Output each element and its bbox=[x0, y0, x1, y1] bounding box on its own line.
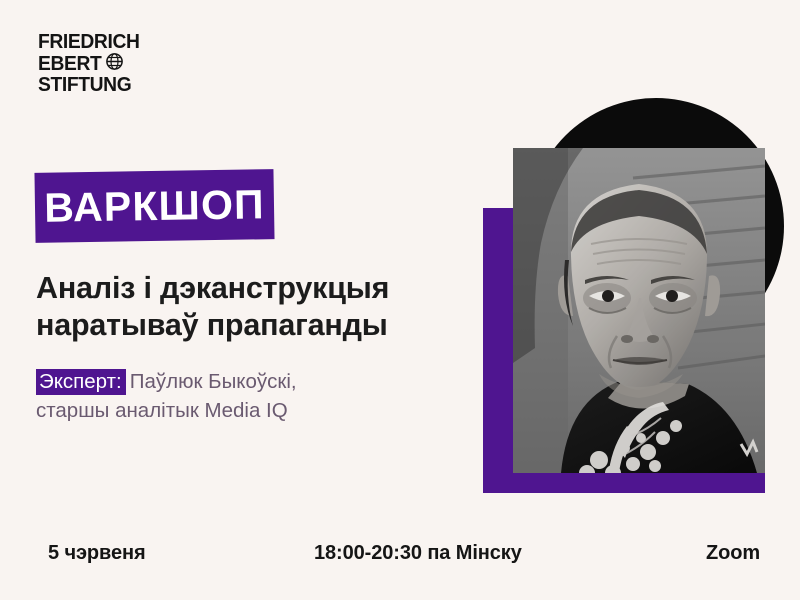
logo-line-ebert: EBERT bbox=[38, 54, 101, 74]
logo-line-friedrich: FRIEDRICH bbox=[38, 32, 160, 52]
page-title: Аналіз і дэканструкцыя наратываў прапага… bbox=[36, 270, 466, 344]
event-time: 18:00-20:30 па Мінску bbox=[314, 542, 522, 565]
avatar bbox=[513, 148, 765, 473]
footer-bar: 5 чэрвеня 18:00-20:30 па Мінску Zoom bbox=[0, 542, 800, 572]
event-poster: FRIEDRICH EBERT STIFTUNG ВАРКШОП Аналіз … bbox=[0, 0, 800, 600]
logo-row-ebert: EBERT bbox=[38, 52, 168, 75]
workshop-badge: ВАРКШОП bbox=[34, 169, 274, 243]
logo-line-stiftung: STIFTUNG bbox=[38, 75, 160, 95]
event-date: 5 чэрвеня bbox=[48, 542, 146, 565]
expert-role: старшы аналітык Media IQ bbox=[36, 397, 456, 424]
headline-line-1: Аналіз і дэканструкцыя bbox=[36, 270, 466, 307]
fes-logo: FRIEDRICH EBERT STIFTUNG bbox=[38, 32, 168, 94]
expert-name: Паўлюк Быкоўскі, bbox=[130, 370, 297, 393]
speaker-collage bbox=[460, 90, 800, 510]
expert-label: Эксперт: bbox=[36, 369, 126, 395]
headline-line-2: наратываў прапаганды bbox=[36, 307, 466, 344]
event-platform: Zoom bbox=[706, 542, 760, 565]
workshop-badge-label: ВАРКШОП bbox=[44, 184, 265, 228]
globe-icon bbox=[106, 53, 123, 75]
expert-block: Эксперт:Паўлюк Быкоўскі, старшы аналітык… bbox=[36, 368, 456, 424]
